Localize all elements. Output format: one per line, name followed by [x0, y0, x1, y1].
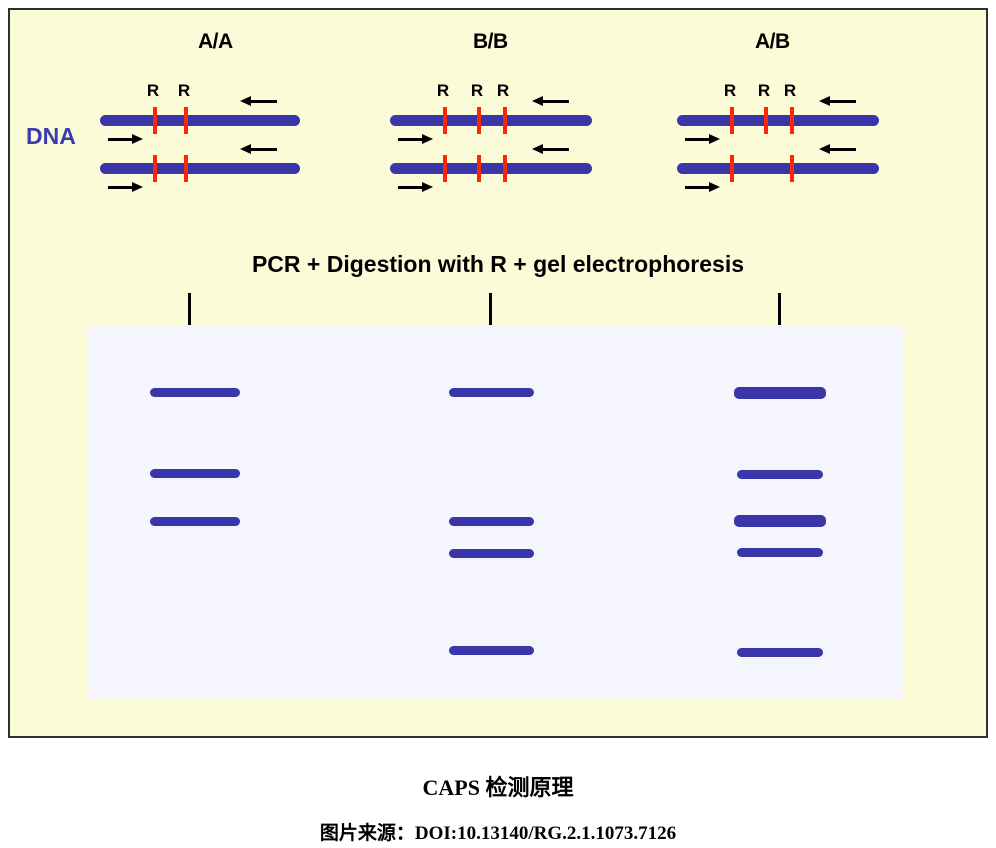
gel-band [150, 388, 240, 397]
primer-shaft [251, 100, 277, 103]
gel-band [449, 517, 534, 526]
primer-arrowhead [532, 96, 543, 106]
primer-shaft [543, 148, 569, 151]
restriction-cut-mark [503, 155, 507, 182]
primer-shaft [685, 138, 711, 141]
restriction-cut-mark [503, 107, 507, 134]
primer-arrowhead [132, 134, 143, 144]
forward-primer-arrow [398, 134, 435, 144]
gel-band [150, 517, 240, 526]
duplex-group-a-a: RR [100, 10, 300, 210]
dna-strand-bar [100, 163, 300, 174]
dna-strand-bar [677, 115, 879, 126]
dna-strand-bottom [100, 163, 300, 174]
duplex-group-b-b: RRR [390, 10, 592, 210]
dna-label: DNA [26, 123, 76, 150]
primer-shaft [830, 100, 856, 103]
primer-arrowhead [532, 144, 543, 154]
restriction-site-letter: R [147, 81, 159, 101]
restriction-site-letter: R [784, 81, 796, 101]
reverse-primer-arrow [819, 96, 856, 106]
restriction-cut-mark [764, 107, 768, 134]
gel-band [737, 548, 823, 557]
restriction-cut-mark [184, 155, 188, 182]
primer-shaft [398, 186, 424, 189]
restriction-cut-mark [790, 155, 794, 182]
forward-primer-arrow [108, 134, 145, 144]
primer-arrowhead [240, 96, 251, 106]
primer-shaft [108, 138, 134, 141]
restriction-cut-mark [477, 107, 481, 134]
restriction-site-letter: R [758, 81, 770, 101]
primer-arrowhead [709, 134, 720, 144]
restriction-cut-mark [153, 155, 157, 182]
process-caption: PCR + Digestion with R + gel electrophor… [10, 251, 986, 278]
dna-strand-top [677, 115, 879, 126]
dna-strand-bottom [677, 163, 879, 174]
gel-band [734, 515, 826, 527]
dna-strand-bar [390, 163, 592, 174]
gel-band [449, 388, 534, 397]
primer-shaft [543, 100, 569, 103]
gel-band [449, 646, 534, 655]
gel-electrophoresis-box [88, 325, 904, 700]
dna-strand-bar [390, 115, 592, 126]
duplex-group-a-b: RRR [677, 10, 879, 210]
primer-arrowhead [422, 182, 433, 192]
figure-caption-source: 图片来源：DOI:10.13140/RG.2.1.1073.7126 [0, 818, 996, 845]
restriction-cut-mark [184, 107, 188, 134]
primer-arrowhead [819, 144, 830, 154]
restriction-cut-mark [730, 107, 734, 134]
forward-primer-arrow [108, 182, 145, 192]
gel-band [737, 470, 823, 479]
gel-band [150, 469, 240, 478]
forward-primer-arrow [685, 182, 722, 192]
primer-arrowhead [422, 134, 433, 144]
gel-band [737, 648, 823, 657]
restriction-site-letter: R [497, 81, 509, 101]
dna-strand-bar [100, 115, 300, 126]
primer-arrowhead [132, 182, 143, 192]
reverse-primer-arrow [240, 96, 277, 106]
dna-strand-top [390, 115, 592, 126]
restriction-cut-mark [477, 155, 481, 182]
restriction-site-letter: R [178, 81, 190, 101]
primer-shaft [251, 148, 277, 151]
reverse-primer-arrow [819, 144, 856, 154]
dna-strand-bar [677, 163, 879, 174]
primer-arrowhead [240, 144, 251, 154]
restriction-site-letter: R [724, 81, 736, 101]
reverse-primer-arrow [240, 144, 277, 154]
forward-primer-arrow [398, 182, 435, 192]
primer-shaft [108, 186, 134, 189]
restriction-cut-mark [443, 155, 447, 182]
dna-strand-bottom [390, 163, 592, 174]
restriction-cut-mark [153, 107, 157, 134]
primer-shaft [685, 186, 711, 189]
restriction-cut-mark [443, 107, 447, 134]
primer-arrowhead [709, 182, 720, 192]
figure-frame: A/AB/BA/B DNA RRRRRRRR PCR + Digestion w… [8, 8, 988, 738]
primer-shaft [830, 148, 856, 151]
reverse-primer-arrow [532, 96, 569, 106]
forward-primer-arrow [685, 134, 722, 144]
restriction-cut-mark [730, 155, 734, 182]
gel-band [449, 549, 534, 558]
restriction-site-letter: R [471, 81, 483, 101]
figure-caption-title: CAPS 检测原理 [0, 770, 996, 802]
restriction-cut-mark [790, 107, 794, 134]
dna-strand-top [100, 115, 300, 126]
primer-shaft [398, 138, 424, 141]
gel-band [734, 387, 826, 399]
primer-arrowhead [819, 96, 830, 106]
restriction-site-letter: R [437, 81, 449, 101]
reverse-primer-arrow [532, 144, 569, 154]
